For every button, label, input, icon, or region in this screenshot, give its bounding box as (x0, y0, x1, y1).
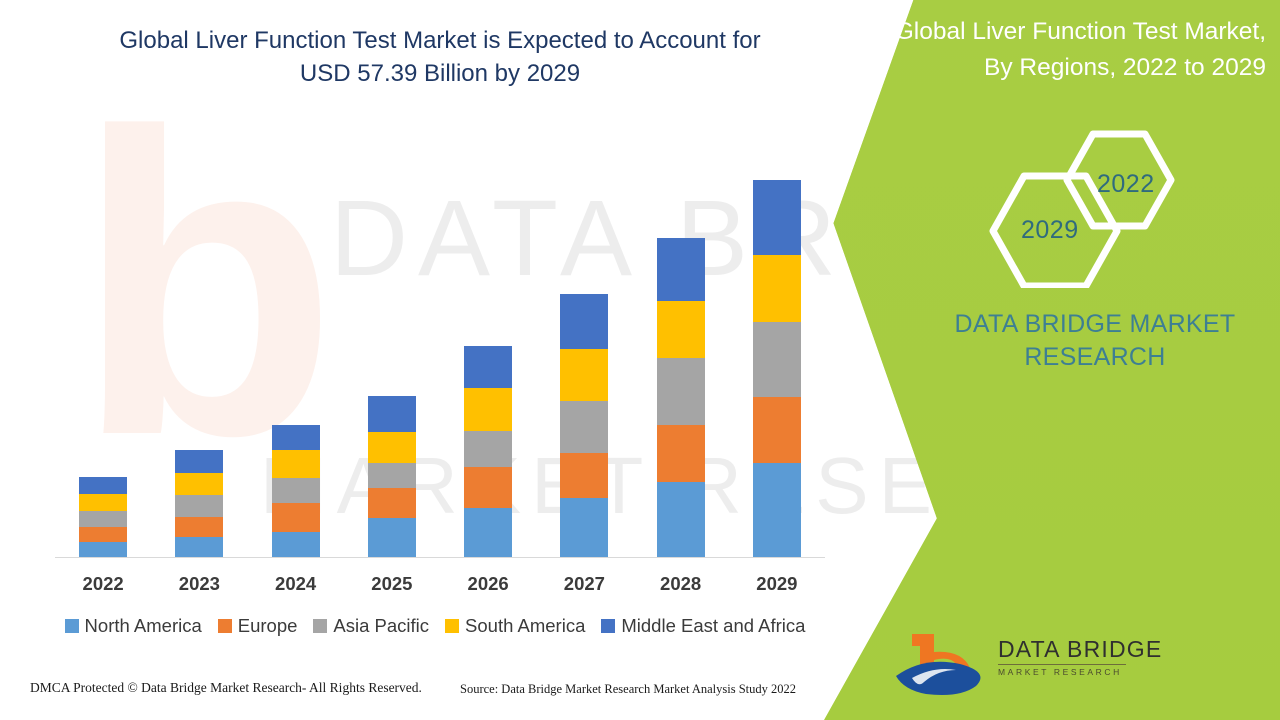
chart-bar (272, 425, 320, 557)
page-title: Global Liver Function Test Market is Exp… (55, 24, 825, 90)
legend-label: North America (85, 615, 202, 637)
chart-bar-segment (657, 482, 705, 557)
chart-legend: North AmericaEuropeAsia PacificSouth Ame… (40, 615, 830, 637)
chart-bar-segment (657, 425, 705, 482)
chart-bar-segment (753, 463, 801, 557)
chart-bar-segment (79, 542, 127, 557)
chart-bar-segment (79, 511, 127, 527)
chart-bar-segment (753, 180, 801, 255)
logo-subtitle: MARKET RESEARCH (998, 667, 1123, 677)
legend-swatch-icon (445, 619, 459, 633)
chart-bar (464, 346, 512, 557)
chart-bar-segment (657, 358, 705, 425)
chart-bar-segment (368, 518, 416, 557)
chart-bar-segment (368, 432, 416, 463)
chart-bar-segment (753, 322, 801, 397)
infographic-canvas: b DATA BRIDGE MARKET RESEARCH Global Liv… (0, 0, 1280, 720)
legend-label: Asia Pacific (333, 615, 429, 637)
chart-bar-segment (560, 453, 608, 498)
panel-title-line-2: By Regions, 2022 to 2029 (874, 50, 1266, 86)
logo-mark-icon (890, 630, 995, 698)
chart-bar (368, 396, 416, 557)
chart-bar-segment (657, 238, 705, 301)
panel-title-line-1: Global Liver Function Test Market, (874, 14, 1266, 50)
panel-brand-line-2: RESEARCH (945, 341, 1245, 374)
logo-wordmark: DATA BRIDGE MARKET RESEARCH (998, 636, 1123, 677)
chart-bar-segment (560, 498, 608, 557)
chart-bar-segment (560, 294, 608, 349)
chart-bar (79, 477, 127, 557)
chart-bar-segment (175, 473, 223, 495)
panel-title: Global Liver Function Test Market, By Re… (874, 14, 1266, 86)
footer-source: Source: Data Bridge Market Research Mark… (460, 682, 796, 697)
chart-x-axis-line (55, 557, 825, 558)
headline-line-2: USD 57.39 Billion by 2029 (55, 57, 825, 90)
chart-bar-segment (657, 301, 705, 358)
chart-bar-segment (560, 349, 608, 401)
chart-bar-segment (272, 503, 320, 532)
chart-bar (753, 180, 801, 557)
chart-x-label: 2027 (549, 573, 619, 595)
legend-item[interactable]: North America (65, 615, 202, 637)
chart-bar-segment (175, 517, 223, 537)
legend-swatch-icon (65, 619, 79, 633)
chart-bar (657, 238, 705, 557)
chart-x-axis-labels: 20222023202420252026202720282029 (55, 573, 825, 599)
legend-swatch-icon (313, 619, 327, 633)
chart-bar-segment (79, 477, 127, 494)
logo-title: DATA BRIDGE (998, 636, 1123, 663)
chart-bar-segment (272, 532, 320, 557)
legend-item[interactable]: South America (445, 615, 585, 637)
chart-bar-segment (272, 450, 320, 478)
chart-bar-segment (464, 508, 512, 557)
chart-bar-segment (464, 467, 512, 508)
chart-bar-segment (464, 346, 512, 388)
chart-bar-segment (79, 527, 127, 542)
chart-bar-segment (175, 495, 223, 517)
headline-line-1: Global Liver Function Test Market is Exp… (55, 24, 825, 57)
legend-swatch-icon (218, 619, 232, 633)
panel-brand-name: DATA BRIDGE MARKET RESEARCH (945, 308, 1245, 374)
legend-item[interactable]: Asia Pacific (313, 615, 429, 637)
chart-bar-segment (368, 463, 416, 488)
hexagon-label-start-year: 2022 (1097, 170, 1155, 199)
legend-label: Middle East and Africa (621, 615, 805, 637)
chart-plot-area (55, 120, 825, 558)
chart-bar-segment (272, 425, 320, 450)
legend-item[interactable]: Middle East and Africa (601, 615, 805, 637)
chart-bar (560, 294, 608, 557)
stacked-bar-chart (55, 120, 825, 560)
data-bridge-logo: DATA BRIDGE MARKET RESEARCH (890, 630, 1120, 700)
legend-swatch-icon (601, 619, 615, 633)
chart-bar-segment (368, 488, 416, 518)
footer: DMCA Protected © Data Bridge Market Rese… (0, 680, 860, 712)
chart-x-label: 2029 (742, 573, 812, 595)
chart-bar-segment (560, 401, 608, 453)
chart-bar-segment (175, 537, 223, 557)
footer-copyright: DMCA Protected © Data Bridge Market Rese… (30, 680, 422, 696)
chart-bar-segment (464, 388, 512, 431)
legend-item[interactable]: Europe (218, 615, 298, 637)
panel-brand-line-1: DATA BRIDGE MARKET (945, 308, 1245, 341)
chart-x-label: 2025 (357, 573, 427, 595)
chart-x-label: 2022 (68, 573, 138, 595)
hexagon-outline-icon (985, 128, 1205, 288)
chart-x-label: 2023 (164, 573, 234, 595)
hexagon-label-end-year: 2029 (1021, 216, 1079, 245)
chart-bar-segment (368, 396, 416, 432)
chart-bar-segment (272, 478, 320, 503)
chart-bar-segment (753, 255, 801, 322)
logo-blue-swoosh-shape (896, 662, 980, 695)
chart-bar-segment (464, 431, 512, 467)
chart-x-label: 2026 (453, 573, 523, 595)
legend-label: Europe (238, 615, 298, 637)
chart-x-label: 2028 (646, 573, 716, 595)
legend-label: South America (465, 615, 585, 637)
chart-bar-segment (753, 397, 801, 463)
chart-bar-segment (175, 450, 223, 473)
chart-x-label: 2024 (261, 573, 331, 595)
hexagon-badges: 2022 2029 (985, 128, 1205, 288)
chart-bar (175, 450, 223, 557)
chart-bar-segment (79, 494, 127, 511)
logo-divider (998, 664, 1126, 665)
